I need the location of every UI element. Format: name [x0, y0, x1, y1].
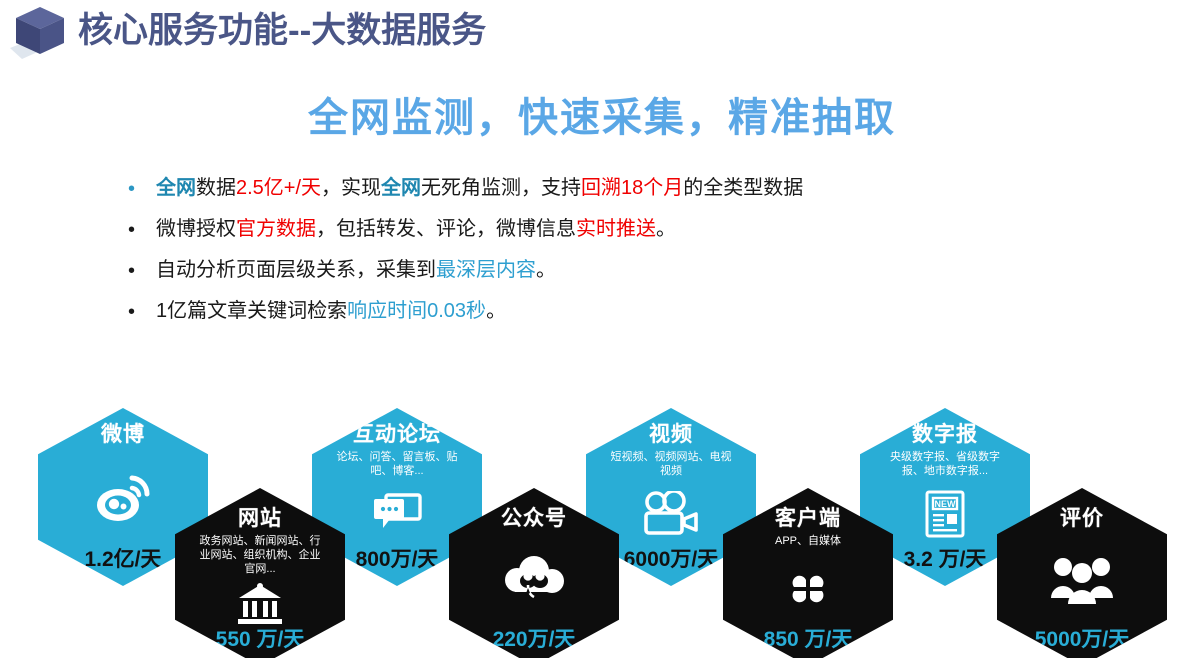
bullet-segment: 全网 — [381, 177, 421, 199]
bullet-segment: 。 — [536, 259, 556, 281]
hexagon-title: 网站 — [238, 508, 282, 530]
list-item: • 1亿篇文章关键词检索响应时间0.03秒。 — [128, 301, 1128, 322]
bullet-segment: 响应时间0.03秒 — [347, 300, 486, 322]
page-title: 核心服务功能--大数据服务 — [78, 2, 486, 53]
hexagon-title: 客户端 — [775, 508, 841, 530]
bullet-segment: 。 — [656, 218, 676, 240]
bullet-marker: • — [128, 178, 156, 199]
people-group-icon — [997, 530, 1167, 629]
bullet-list: • 全网数据2.5亿+/天，实现全网无死角监测，支持回溯18个月的全类型数据 •… — [128, 178, 1128, 342]
channel-hexagon-band: 微博 1.2亿/天 网站 政务网站、新闻网站、行业网站、组织机构、企业官网... — [0, 400, 1204, 658]
hexagon-title: 微博 — [101, 424, 145, 446]
bullet-segment: 全网 — [156, 177, 196, 199]
cube-icon — [8, 2, 72, 62]
hexagon-title: 公众号 — [501, 508, 567, 530]
hexagon-title: 评价 — [1060, 508, 1104, 530]
bullet-text: 自动分析页面层级关系，采集到最深层内容。 — [156, 260, 556, 280]
hexagon-title: 视频 — [649, 424, 693, 446]
bullet-segment: ，实现 — [321, 177, 381, 199]
bullet-segment: 1亿篇文章关键词检索 — [156, 300, 347, 322]
bullet-segment: 无死角监测，支持 — [421, 177, 581, 199]
app-grid-icon — [723, 549, 893, 629]
svg-text:NEW: NEW — [935, 499, 957, 509]
list-item: • 微博授权官方数据，包括转发、评论，微博信息实时推送。 — [128, 219, 1128, 240]
hexagon-title: 数字报 — [912, 424, 978, 446]
bullet-segment: 回溯18个月 — [581, 177, 683, 199]
hexagon-subtitle: 政务网站、新闻网站、行业网站、组织机构、企业官网... — [195, 535, 325, 576]
hexagon-subtitle: APP、自媒体 — [743, 535, 873, 549]
hexagon-value: 220万/天 — [493, 629, 576, 658]
list-item: • 自动分析页面层级关系，采集到最深层内容。 — [128, 260, 1128, 281]
hexagon-subtitle: 央级数字报、省级数字报、地市数字报... — [880, 451, 1010, 479]
hexagon-value: 800万/天 — [356, 549, 439, 586]
hexagon-value: 3.2 万/天 — [904, 549, 987, 586]
bullet-segment: 最深层内容 — [436, 259, 536, 281]
main-heading: 全网监测，快速采集，精准抽取 — [0, 85, 1204, 143]
bullet-marker: • — [128, 219, 156, 240]
bullet-segment: 数据 — [196, 177, 236, 199]
bullet-text: 全网数据2.5亿+/天，实现全网无死角监测，支持回溯18个月的全类型数据 — [156, 178, 803, 198]
hexagon-value: 5000万/天 — [1035, 629, 1130, 658]
hexagon-value: 1.2亿/天 — [84, 549, 161, 586]
hexagon-subtitle: 短视频、视频网站、电视视频 — [606, 451, 736, 479]
bullet-marker: • — [128, 301, 156, 322]
bullet-text: 1亿篇文章关键词检索响应时间0.03秒。 — [156, 301, 506, 321]
hexagon-title: 互动论坛 — [353, 424, 441, 446]
hexagon-value: 850 万/天 — [764, 629, 853, 658]
bank-icon — [175, 576, 345, 629]
bullet-marker: • — [128, 260, 156, 281]
slide-root: 核心服务功能--大数据服务 全网监测，快速采集，精准抽取 • 全网数据2.5亿+… — [0, 0, 1204, 658]
bullet-segment: 2.5亿+/天 — [236, 177, 321, 199]
hexagon-subtitle: 论坛、问答、留言板、贴吧、博客... — [332, 451, 462, 479]
bullet-segment: 的全类型数据 — [683, 177, 803, 199]
hexagon-value: 550 万/天 — [216, 629, 305, 658]
bullet-segment: 自动分析页面层级关系，采集到 — [156, 259, 436, 281]
bullet-segment: 官方数据 — [236, 218, 316, 240]
bullet-segment: ，包括转发、评论，微博信息 — [316, 218, 576, 240]
list-item: • 全网数据2.5亿+/天，实现全网无死角监测，支持回溯18个月的全类型数据 — [128, 178, 1128, 199]
bullet-segment: 实时推送 — [576, 218, 656, 240]
bullet-text: 微博授权官方数据，包括转发、评论，微博信息实时推送。 — [156, 219, 676, 239]
hexagon-value: 6000万/天 — [624, 549, 719, 586]
bullet-segment: 。 — [486, 300, 506, 322]
wechat-cloud-icon — [449, 530, 619, 629]
bullet-segment: 微博授权 — [156, 218, 236, 240]
